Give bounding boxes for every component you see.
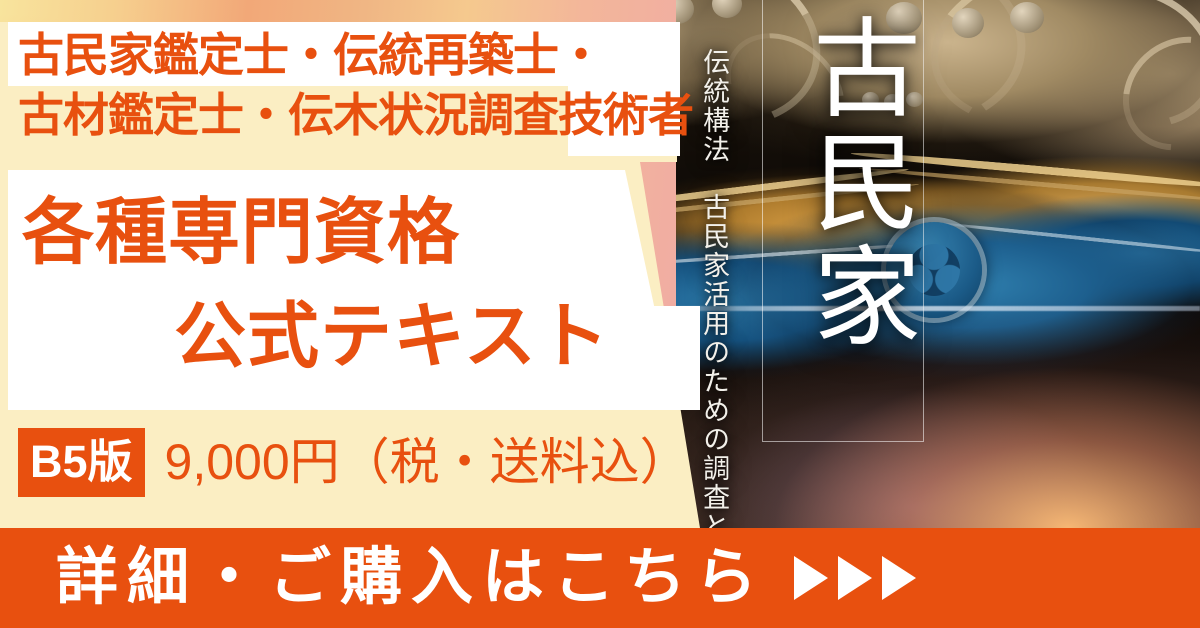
triangle-right-icon [838,556,872,600]
headline: 古民家鑑定士・伝統再築士・ 古材鑑定士・伝木状況調査技術者 [18,26,718,146]
headline-line-2: 古材鑑定士・伝木状況調査技術者 [18,86,718,146]
cta-arrows [794,556,916,600]
headline-line-1: 古民家鑑定士・伝統再築士・ [18,26,718,86]
triangle-right-icon [794,556,828,600]
cta-button[interactable]: 詳細・ご購入はこちら [0,528,1200,628]
promo-banner: 古民家 伝統構法 古民家活用のための調査と再生の 古民家鑑定士・伝統再築士・ 古… [0,0,1200,628]
subheadline-line-1: 各種専門資格 [22,182,682,286]
cta-label: 詳細・ご購入はこちら [56,547,766,609]
price-text: 9,000円（税・送料込） [165,437,690,487]
triangle-right-icon [882,556,916,600]
subheadline-line-2: 公式テキスト [22,286,682,390]
cover-title: 古民家 [762,12,922,354]
price-row: B5版 9,000円（税・送料込） [18,427,690,497]
format-badge: B5版 [18,428,145,497]
subheadline: 各種専門資格 公式テキスト [22,182,682,389]
